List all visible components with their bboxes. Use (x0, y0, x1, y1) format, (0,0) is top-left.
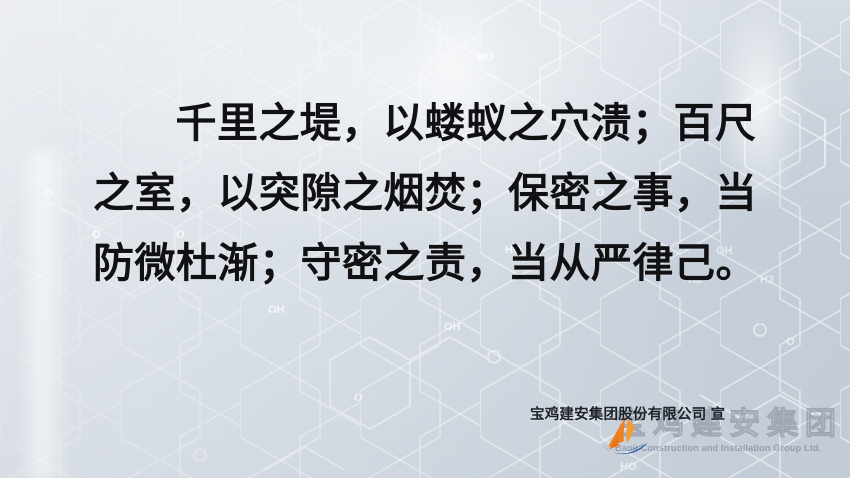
company-name-label: 宝鸡建安集团股份有限公司 宣 (530, 403, 725, 424)
quote-text-block: 千里之堤，以蝼蚁之穴溃；百尺 之室，以突隙之烟焚；保密之事，当 防微杜渐；守密之… (0, 88, 850, 298)
chem-label: O (786, 336, 795, 348)
quote-line-2: 之室，以突隙之烟焚；保密之事，当 (0, 158, 850, 228)
quote-line-3: 防微杜渐；守密之责，当从严律己。 (0, 228, 850, 298)
footer-branding: 宝鸡建安集团 Baoji Construction and Installati… (500, 398, 850, 478)
chem-label: OH (268, 304, 285, 316)
chem-label: O (354, 392, 363, 404)
quote-line-1: 千里之堤，以蝼蚁之穴溃；百尺 (0, 88, 850, 158)
chem-label: HO (477, 51, 494, 63)
chem-label: OH (444, 321, 461, 333)
presentation-slide: O HO O H2 H2 HO OH OH OH O O O O HO 千里之堤… (0, 0, 850, 478)
